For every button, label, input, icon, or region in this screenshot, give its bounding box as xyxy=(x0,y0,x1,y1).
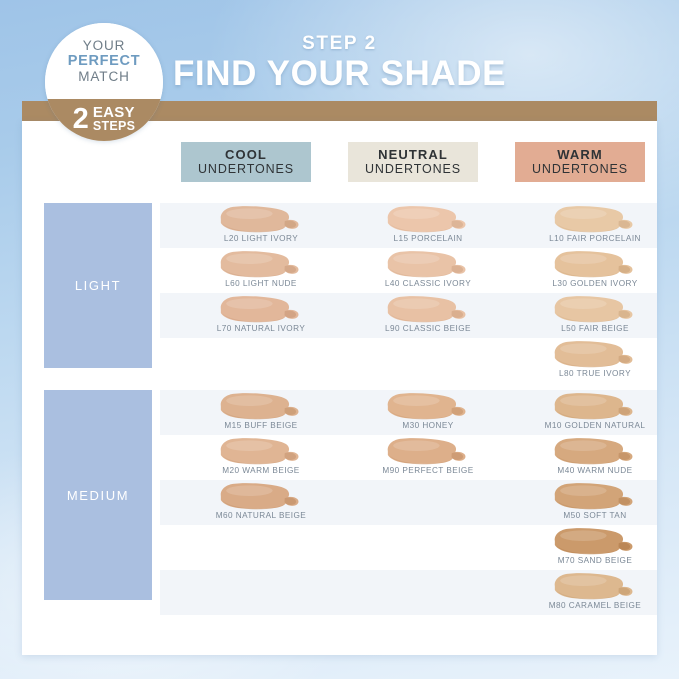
shade-cell[interactable]: L30 GOLDEN IVORY xyxy=(515,248,675,293)
column-header-cool-main: COOL xyxy=(225,148,267,163)
shade-swatch-icon xyxy=(211,294,311,324)
column-header-neutral-main: NEUTRAL xyxy=(378,148,448,163)
shade-swatch-icon xyxy=(211,204,311,234)
shade-swatch-icon xyxy=(211,391,311,421)
shade-cell[interactable]: L60 LIGHT NUDE xyxy=(181,248,341,293)
shade-cell[interactable]: M50 SOFT TAN xyxy=(515,480,675,525)
shade-swatch-icon xyxy=(545,204,645,234)
shade-cell[interactable]: M90 PERFECT BEIGE xyxy=(348,435,508,480)
shade-cell[interactable]: L15 PORCELAIN xyxy=(348,203,508,248)
perfect-match-badge: YOUR PERFECT MATCH 2 EASY STEPS xyxy=(45,23,163,141)
column-header-warm: WARM UNDERTONES xyxy=(515,142,645,182)
shade-grid: L20 LIGHT IVORYL60 LIGHT NUDEL70 NATURAL… xyxy=(160,195,657,615)
badge-line-perfect: PERFECT xyxy=(68,53,141,69)
shade-swatch-icon xyxy=(545,571,645,601)
shade-cell[interactable]: L10 FAIR PORCELAIN xyxy=(515,203,675,248)
badge-step-number: 2 xyxy=(73,105,89,134)
shade-swatch-icon xyxy=(545,481,645,511)
depth-group-medium-label: MEDIUM xyxy=(67,488,129,503)
shade-swatch-icon xyxy=(211,481,311,511)
badge-steps-label: STEPS xyxy=(93,120,136,133)
shade-name-label: M10 GOLDEN NATURAL xyxy=(515,421,675,430)
shade-name-label: M30 HONEY xyxy=(348,421,508,430)
shade-swatch-icon xyxy=(378,204,478,234)
shade-cell[interactable]: L40 CLASSIC IVORY xyxy=(348,248,508,293)
shade-name-label: M40 WARM NUDE xyxy=(515,466,675,475)
shade-name-label: L60 LIGHT NUDE xyxy=(181,279,341,288)
shade-cell[interactable]: M60 NATURAL BEIGE xyxy=(181,480,341,525)
shade-swatch-icon xyxy=(545,436,645,466)
column-header-neutral-sub: UNDERTONES xyxy=(365,162,461,176)
column-header-cool: COOL UNDERTONES xyxy=(181,142,311,182)
column-header-warm-sub: UNDERTONES xyxy=(532,162,628,176)
shade-name-label: M80 CARAMEL BEIGE xyxy=(515,601,675,610)
shade-cell[interactable]: M80 CARAMEL BEIGE xyxy=(515,570,675,615)
shade-swatch-icon xyxy=(545,526,645,556)
shade-name-label: L90 CLASSIC BEIGE xyxy=(348,324,508,333)
shade-swatch-icon xyxy=(378,391,478,421)
shade-name-label: L40 CLASSIC IVORY xyxy=(348,279,508,288)
shade-cell[interactable]: L20 LIGHT IVORY xyxy=(181,203,341,248)
shade-cell[interactable]: M10 GOLDEN NATURAL xyxy=(515,390,675,435)
shade-name-label: L20 LIGHT IVORY xyxy=(181,234,341,243)
depth-group-medium: MEDIUM xyxy=(44,390,152,600)
shade-swatch-icon xyxy=(378,436,478,466)
badge-line-match: MATCH xyxy=(78,69,130,84)
shade-swatch-icon xyxy=(378,249,478,279)
shade-cell[interactable]: M15 BUFF BEIGE xyxy=(181,390,341,435)
badge-steps-text: EASY STEPS xyxy=(93,105,136,133)
shade-swatch-icon xyxy=(378,294,478,324)
depth-group-light-label: LIGHT xyxy=(75,278,121,293)
shade-name-label: M15 BUFF BEIGE xyxy=(181,421,341,430)
shade-cell[interactable]: M70 SAND BEIGE xyxy=(515,525,675,570)
badge-bottom-section: 2 EASY STEPS xyxy=(45,99,163,141)
shade-name-label: M70 SAND BEIGE xyxy=(515,556,675,565)
shade-name-label: L50 FAIR BEIGE xyxy=(515,324,675,333)
shade-swatch-icon xyxy=(545,294,645,324)
shade-cell[interactable]: M20 WARM BEIGE xyxy=(181,435,341,480)
shade-name-label: M50 SOFT TAN xyxy=(515,511,675,520)
shade-swatch-icon xyxy=(545,249,645,279)
column-header-neutral: NEUTRAL UNDERTONES xyxy=(348,142,478,182)
shade-name-label: M90 PERFECT BEIGE xyxy=(348,466,508,475)
shade-name-label: L10 FAIR PORCELAIN xyxy=(515,234,675,243)
column-header-cool-sub: UNDERTONES xyxy=(198,162,294,176)
shade-cell[interactable]: L70 NATURAL IVORY xyxy=(181,293,341,338)
shade-name-label: L15 PORCELAIN xyxy=(348,234,508,243)
shade-name-label: L30 GOLDEN IVORY xyxy=(515,279,675,288)
shade-cell[interactable]: M40 WARM NUDE xyxy=(515,435,675,480)
shade-name-label: L80 TRUE IVORY xyxy=(515,369,675,378)
badge-top-section: YOUR PERFECT MATCH xyxy=(45,23,163,99)
column-header-warm-main: WARM xyxy=(557,148,603,163)
badge-easy-label: EASY xyxy=(93,105,136,120)
shade-cell[interactable]: L50 FAIR BEIGE xyxy=(515,293,675,338)
shade-swatch-icon xyxy=(211,249,311,279)
shade-name-label: M20 WARM BEIGE xyxy=(181,466,341,475)
shade-swatch-icon xyxy=(211,436,311,466)
shade-swatch-icon xyxy=(545,339,645,369)
shade-name-label: L70 NATURAL IVORY xyxy=(181,324,341,333)
badge-line-your: YOUR xyxy=(83,38,126,53)
shade-cell[interactable]: L90 CLASSIC BEIGE xyxy=(348,293,508,338)
shade-swatch-icon xyxy=(545,391,645,421)
shade-name-label: M60 NATURAL BEIGE xyxy=(181,511,341,520)
depth-group-light: LIGHT xyxy=(44,203,152,368)
shade-cell[interactable]: L80 TRUE IVORY xyxy=(515,338,675,383)
shade-cell[interactable]: M30 HONEY xyxy=(348,390,508,435)
